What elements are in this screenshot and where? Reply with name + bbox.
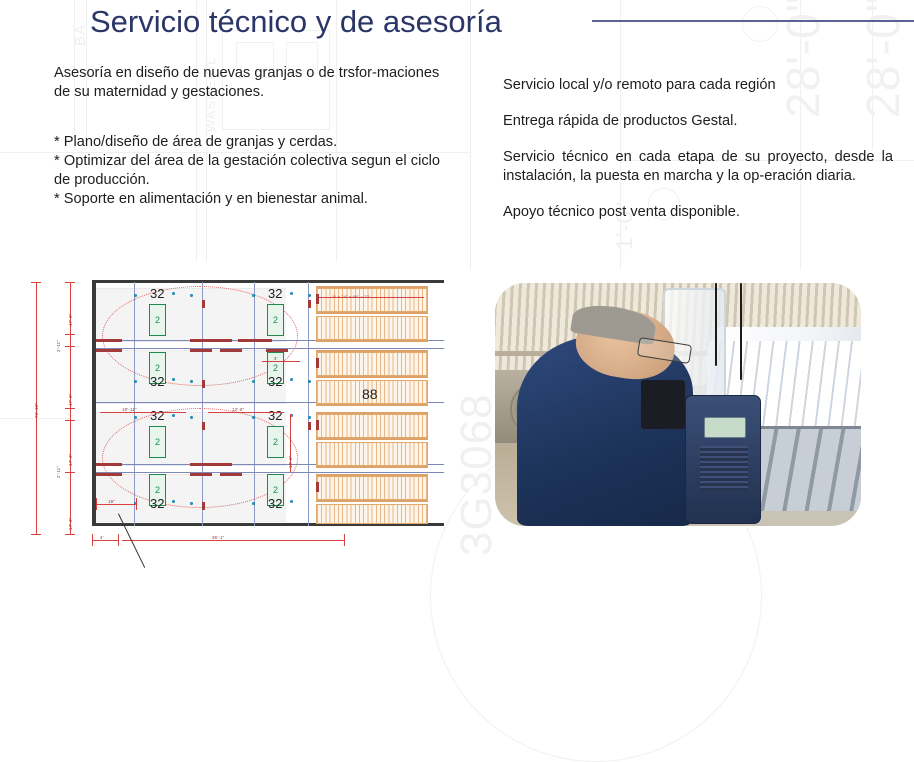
bullet-list: * Plano/diseño de área de granjas y cerd…: [54, 133, 440, 209]
grid-marker-dot: [134, 294, 137, 297]
grid-marker-dot: [290, 292, 293, 295]
pen-box: 2: [149, 304, 166, 336]
gate-marker: [96, 349, 122, 352]
stall-rail: [316, 466, 428, 468]
service-item: Servicio técnico en cada etapa de su pro…: [503, 148, 893, 186]
grid-marker-dot: [172, 292, 175, 295]
gestation-stall-bank: [316, 288, 428, 312]
bullet-item: * Plano/diseño de área de granjas y cerd…: [54, 133, 440, 152]
stall-rail: [316, 438, 428, 440]
title-divider-rule: [592, 20, 914, 22]
gate-marker: [220, 349, 242, 352]
gate-marker: [96, 339, 122, 342]
gestation-stall-bank: [316, 442, 428, 466]
dimension-tick: [96, 498, 97, 510]
gate-marker: [190, 339, 232, 342]
pen-box: 2: [149, 426, 166, 458]
grid-marker-dot: [252, 294, 255, 297]
gate-marker: [220, 473, 242, 476]
dimension-tick: [118, 534, 119, 546]
dimension-tick: [65, 534, 75, 535]
dimension-tick: [92, 534, 93, 546]
gate-marker: [96, 463, 122, 466]
spacer: [54, 102, 440, 133]
dimension-tick: [65, 282, 75, 283]
gestation-stall-bank: [316, 414, 428, 438]
grid-marker-dot: [172, 414, 175, 417]
pen-capacity-label: 32: [268, 374, 282, 389]
grid-marker-dot: [308, 416, 311, 419]
stall-count-label: 88: [362, 386, 378, 402]
stall-rail: [316, 340, 428, 342]
gestation-stall-bank: [316, 504, 428, 524]
dimension-label-overall-width: 36'-1": [212, 535, 224, 540]
watermark-text: BA: [72, 24, 89, 46]
dimension-line: [262, 361, 300, 362]
grid-marker-dot: [134, 416, 137, 419]
stall-rail: [316, 376, 428, 378]
dimension-line: [318, 297, 424, 298]
dimension-label-bay: 17'-9": [68, 454, 73, 466]
dimension-tick: [65, 346, 75, 347]
dimension-label-overall-height: 76'-10": [34, 403, 39, 418]
grid-marker-dot: [172, 500, 175, 503]
pen-capacity-label: 32: [150, 408, 164, 423]
grid-marker-dot: [172, 378, 175, 381]
grid-marker-dot: [252, 502, 255, 505]
spacer: [503, 186, 893, 203]
gate-marker: [316, 294, 319, 304]
gate-marker: [238, 339, 272, 342]
gate-marker: [308, 300, 311, 308]
dimension-label-bay: 17'-9": [68, 394, 73, 406]
stall-rail: [316, 474, 428, 476]
service-item: Apoyo técnico post venta disponible.: [503, 203, 893, 222]
stall-rail: [316, 286, 428, 288]
grid-line-vertical: [308, 282, 309, 526]
intro-paragraph: Asesoría en diseño de nuevas granjas o d…: [54, 64, 440, 102]
gate-marker: [96, 473, 122, 476]
gate-marker: [316, 420, 319, 430]
dimension-line: [122, 540, 344, 541]
grid-marker-dot: [134, 380, 137, 383]
gate-marker: [190, 463, 232, 466]
grid-marker-dot: [190, 380, 193, 383]
dimension-line: [100, 412, 186, 413]
stall-rail: [316, 412, 428, 414]
grid-marker-dot: [290, 500, 293, 503]
dimension-label-pen-depth: 10'-6": [288, 456, 293, 468]
barn-floor-plan-drawing: 76'-10" 17'-9" 2'-11" 17'-9" 2'-11" 17'-…: [22, 268, 442, 559]
dimension-label-alley: 2'-11": [56, 340, 61, 352]
pen-capacity-label: 32: [268, 286, 282, 301]
gestation-stall-bank: [316, 352, 428, 376]
dimension-label-alley: 2'-11": [56, 466, 61, 478]
dimension-label-pen-width-left: 19'-11": [122, 407, 137, 412]
gate-marker: [202, 300, 205, 308]
gate-marker: [190, 473, 212, 476]
dimension-tick: [31, 534, 41, 535]
gate-marker: [202, 422, 205, 430]
grid-marker-dot: [190, 294, 193, 297]
dimension-tick: [344, 534, 345, 546]
left-text-column: Asesoría en diseño de nuevas granjas o d…: [54, 64, 440, 209]
pen-box: 2: [267, 426, 284, 458]
pen-capacity-label: 32: [150, 374, 164, 389]
photo-scene: [495, 283, 861, 526]
dimension-label-bay: 17'-9": [68, 518, 73, 530]
handheld-device: [641, 380, 685, 429]
pen-box: 2: [267, 304, 284, 336]
page-title: Servicio técnico y de asesoría: [90, 0, 502, 44]
gate-marker: [316, 358, 319, 368]
grid-marker-dot: [190, 502, 193, 505]
dimension-line: [96, 504, 136, 505]
gate-marker: [190, 349, 212, 352]
pen-capacity-label: 32: [268, 496, 282, 511]
dimension-label-bay: 17'-9": [68, 314, 73, 326]
dimension-tick: [65, 472, 75, 473]
bullet-item: * Soporte en alimentación y en bienestar…: [54, 190, 440, 209]
grid-marker-dot: [290, 378, 293, 381]
dimension-label-offset: 4': [100, 535, 104, 540]
bullet-item: * Optimizar del área de la gestación col…: [54, 152, 440, 190]
dimension-label-pen-width-right: 12'-6": [232, 407, 244, 412]
stall-rail: [316, 500, 428, 502]
dimension-label-offset: 4': [274, 356, 278, 361]
dimension-tick: [65, 334, 75, 335]
dimension-label-wall-thickness: 16": [108, 499, 115, 504]
spacer: [503, 131, 893, 148]
dimension-line: [208, 412, 284, 413]
technician-operating-gestal-feeder-photo: [495, 283, 861, 526]
pen-capacity-label: 32: [150, 496, 164, 511]
power-cable: [715, 283, 717, 366]
gate-marker: [202, 502, 205, 510]
control-unit-screen: [704, 417, 746, 438]
gestation-stall-bank: [316, 316, 428, 340]
pen-capacity-label: 32: [268, 408, 282, 423]
control-unit-keypad: [700, 446, 748, 490]
watermark-circle: [742, 6, 778, 42]
grid-marker-dot: [308, 294, 311, 297]
grid-marker-dot: [190, 416, 193, 419]
grid-marker-dot: [252, 416, 255, 419]
gate-marker: [308, 422, 311, 430]
power-cable: [740, 283, 742, 380]
stall-rail: [316, 312, 428, 314]
pen-capacity-label: 32: [150, 286, 164, 301]
dimension-tick: [136, 498, 137, 510]
gate-marker: [316, 482, 319, 492]
stall-rail: [316, 404, 428, 406]
exterior-wall-top: [92, 280, 444, 283]
service-item: Entrega rápida de productos Gestal.: [503, 112, 893, 131]
right-text-column: Servicio local y/o remoto para cada regi…: [503, 76, 893, 222]
dimension-tick: [65, 420, 75, 421]
dimension-tick: [31, 282, 41, 283]
stall-rail: [316, 350, 428, 352]
gate-marker: [266, 349, 288, 352]
grid-marker-dot: [308, 380, 311, 383]
gestation-stall-bank: [316, 476, 428, 500]
service-item: Servicio local y/o remoto para cada regi…: [503, 76, 893, 95]
dimension-tick: [65, 408, 75, 409]
gate-marker: [202, 380, 205, 388]
grid-marker-dot: [252, 380, 255, 383]
dimension-line: [92, 540, 118, 541]
spacer: [503, 95, 893, 112]
